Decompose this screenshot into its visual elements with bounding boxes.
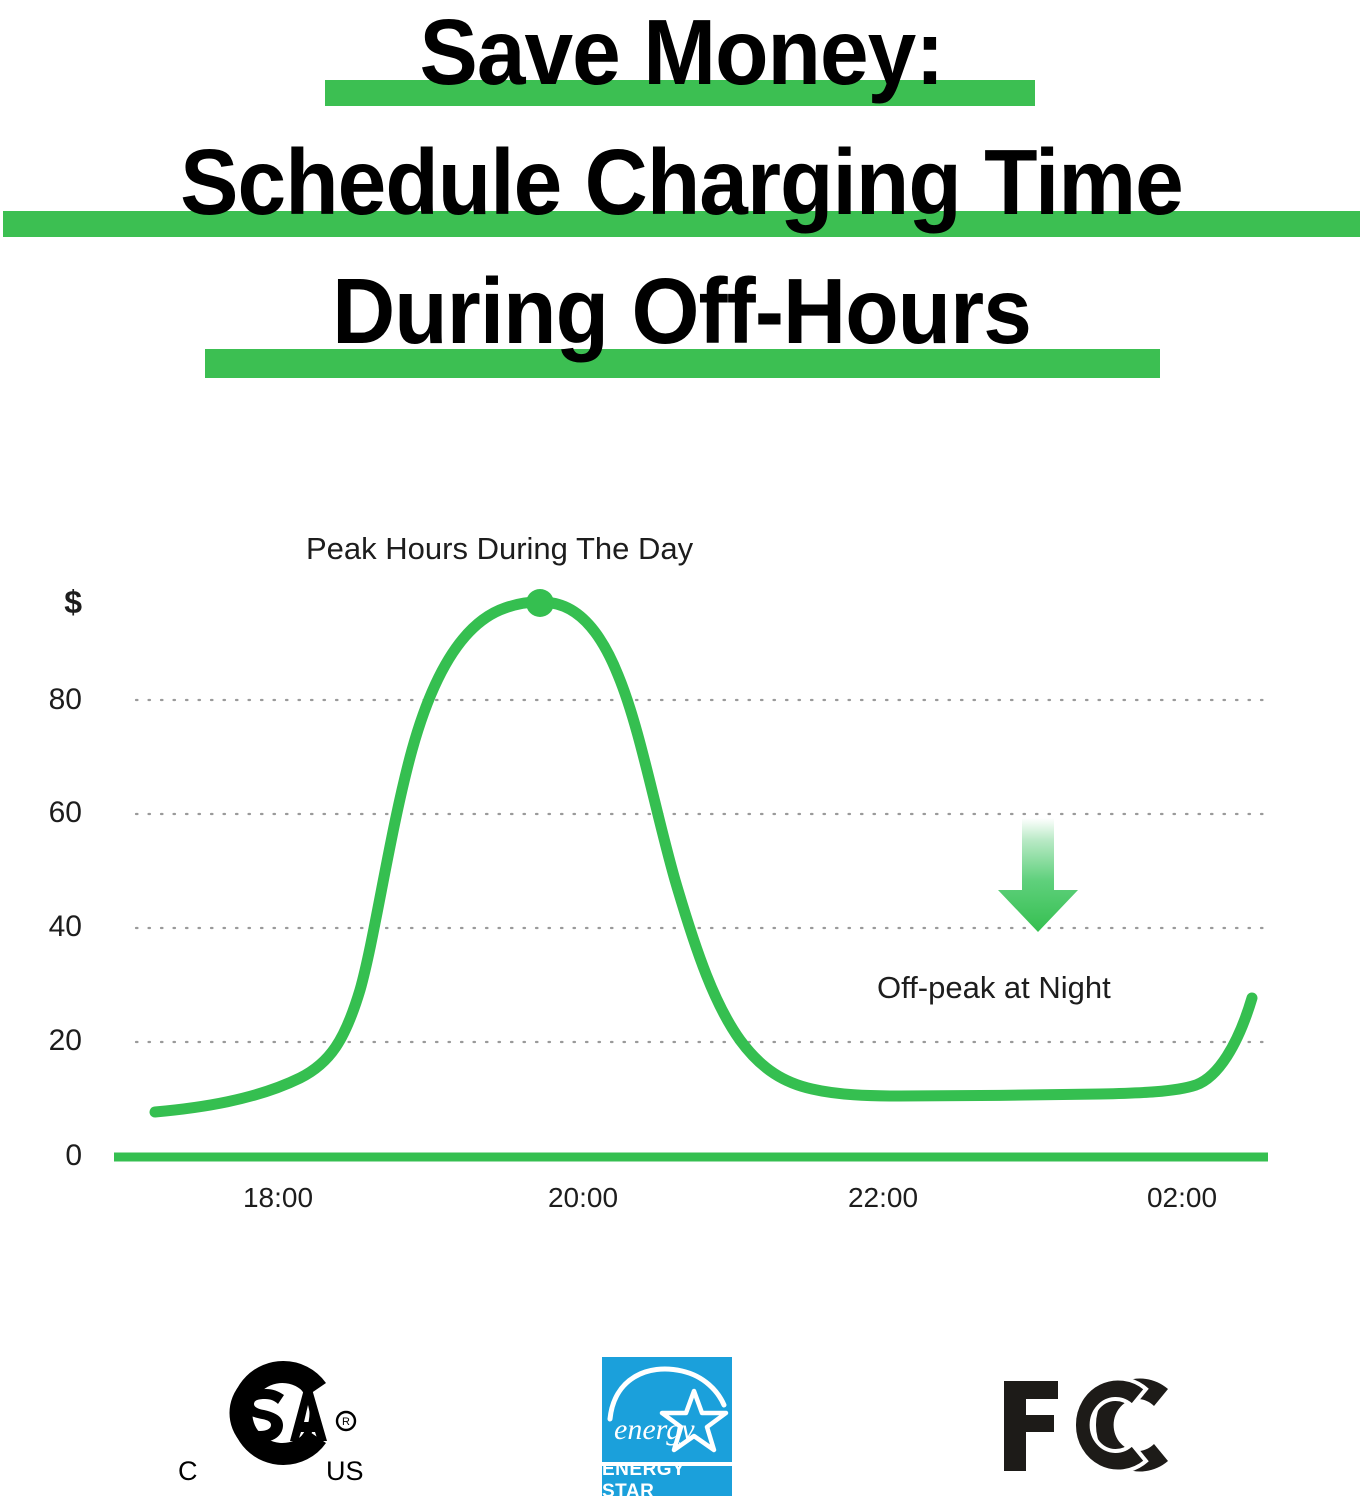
fcc-logo bbox=[1000, 1375, 1170, 1480]
y-tick-80: 80 bbox=[10, 683, 82, 717]
y-tick-40: 40 bbox=[10, 910, 82, 944]
headline-line-3: During Off-Hours bbox=[41, 265, 1322, 358]
certification-logo-row: R C US energy ENERGY STAR bbox=[0, 1345, 1363, 1500]
csa-label-us: US bbox=[326, 1456, 364, 1487]
headline-block: Save Money: Schedule Charging Time Durin… bbox=[0, 0, 1363, 400]
chart-plot-area bbox=[0, 500, 1363, 1200]
off-peak-annotation-label: Off-peak at Night bbox=[877, 970, 1111, 1006]
y-tick-0: 0 bbox=[10, 1139, 82, 1173]
energy-star-wordmark: ENERGY STAR bbox=[602, 1466, 732, 1496]
x-tick-2000: 20:00 bbox=[503, 1182, 663, 1214]
csa-logo: R C US bbox=[178, 1353, 388, 1483]
x-tick-1800: 18:00 bbox=[198, 1182, 358, 1214]
fcc-logo-mark bbox=[1000, 1375, 1170, 1475]
off-peak-arrow-icon bbox=[998, 818, 1078, 932]
y-tick-20: 20 bbox=[10, 1024, 82, 1058]
price-curve bbox=[155, 602, 1252, 1112]
energy-star-logo: energy ENERGY STAR bbox=[602, 1357, 732, 1496]
y-axis-label-dollar: $ bbox=[10, 584, 82, 621]
energy-price-chart: Peak Hours During The Day $ 80 60 40 20 … bbox=[0, 500, 1363, 1260]
y-tick-60: 60 bbox=[10, 796, 82, 830]
chart-title: Peak Hours During The Day bbox=[306, 531, 693, 567]
energy-star-mark: energy bbox=[602, 1357, 732, 1462]
headline-line-2: Schedule Charging Time bbox=[41, 136, 1322, 229]
svg-text:R: R bbox=[342, 1416, 350, 1428]
x-tick-0200: 02:00 bbox=[1102, 1182, 1262, 1214]
energy-script-text: energy bbox=[614, 1413, 695, 1446]
x-tick-2200: 22:00 bbox=[803, 1182, 963, 1214]
peak-marker-dot bbox=[526, 589, 554, 617]
headline-line-1: Save Money: bbox=[41, 6, 1322, 99]
energy-star-glyph: energy bbox=[602, 1357, 732, 1462]
csa-label-c: C bbox=[178, 1456, 198, 1487]
